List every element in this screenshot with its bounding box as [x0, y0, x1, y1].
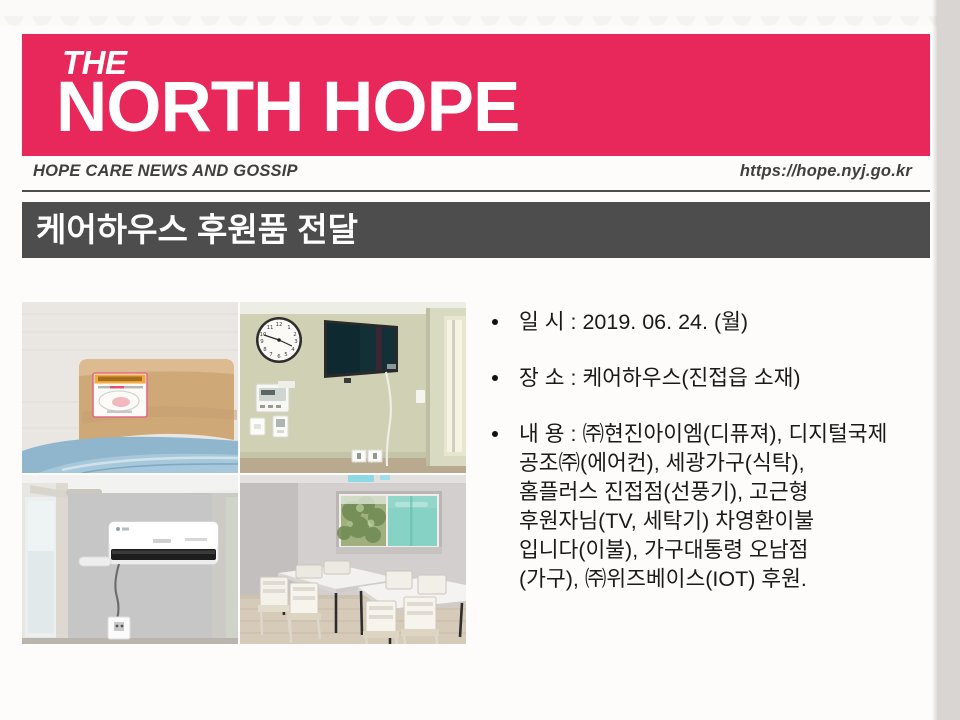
horizontal-rule	[22, 190, 930, 192]
svg-text:6: 6	[277, 354, 281, 360]
svg-text:11: 11	[267, 325, 274, 331]
masthead-url-link[interactable]: https://hope.nyj.go.kr	[740, 162, 912, 181]
svg-text:10: 10	[260, 332, 267, 338]
svg-text:1: 1	[287, 325, 290, 331]
newsletter-slide: THE NORTH HOPE HOPE CARE NEWS AND GOSSIP…	[0, 0, 960, 720]
list-item: 내 용 : ㈜현진아이엠(디퓨져), 디지털국제 공조㈜(에어컨), 세광가구(…	[487, 420, 927, 594]
air-conditioner-photo	[22, 475, 238, 644]
page-gutter	[937, 0, 960, 720]
photo-grid: 1212 345 678 91011	[22, 302, 466, 644]
bullet-text: 장 소 : 케어하우스(진접읍 소재)	[519, 366, 801, 390]
svg-text:5: 5	[284, 352, 287, 358]
masthead-banner: THE NORTH HOPE	[22, 34, 930, 156]
details-bullet-list: 일 시 : 2019. 06. 24. (월) 장 소 : 케어하우스(진접읍 …	[487, 302, 927, 594]
svg-text:2: 2	[293, 332, 296, 338]
tagline-row: HOPE CARE NEWS AND GOSSIP https://hope.n…	[22, 162, 930, 190]
bullet-text: 일 시 : 2019. 06. 24. (월)	[519, 310, 748, 334]
headline-title: 케어하우스 후원품 전달	[36, 208, 358, 252]
svg-text:8: 8	[263, 347, 267, 353]
scalloped-edge-decoration	[0, 16, 960, 30]
headline-bar: 케어하우스 후원품 전달	[22, 202, 930, 258]
bullet-text: 내 용 : ㈜현진아이엠(디퓨져), 디지털국제 공조㈜(에어컨), 세광가구(…	[519, 422, 887, 591]
bullet-dot-icon	[492, 319, 498, 325]
svg-text:4: 4	[291, 347, 295, 353]
list-item: 일 시 : 2019. 06. 24. (월)	[487, 308, 927, 337]
svg-text:7: 7	[269, 352, 272, 358]
bullet-dot-icon	[492, 375, 498, 381]
svg-text:9: 9	[260, 339, 264, 345]
tagline-text: HOPE CARE NEWS AND GOSSIP	[33, 162, 298, 181]
bed-headboard-photo	[22, 302, 238, 473]
bullet-dot-icon	[492, 431, 498, 437]
dining-room-photo	[240, 475, 466, 644]
wall-tv-clock-photo: 1212 345 678 91011	[240, 302, 466, 473]
masthead-title: NORTH HOPE	[56, 72, 519, 143]
list-item: 장 소 : 케어하우스(진접읍 소재)	[487, 364, 927, 393]
svg-text:12: 12	[276, 322, 283, 328]
svg-text:3: 3	[294, 339, 297, 345]
